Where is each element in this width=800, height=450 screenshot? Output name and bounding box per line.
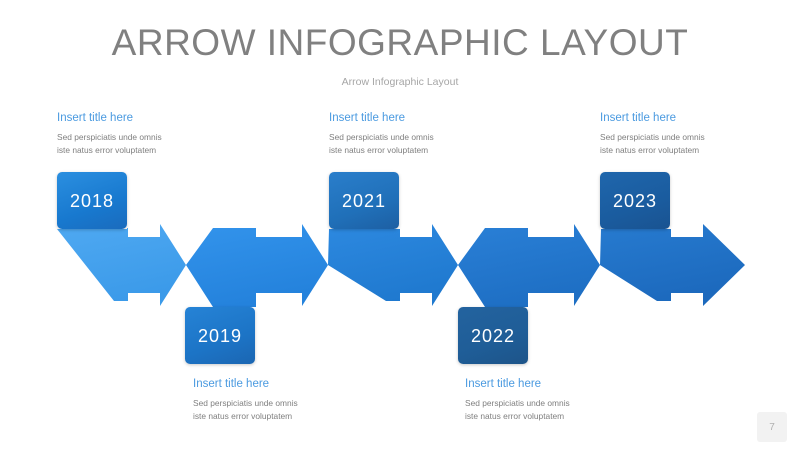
year-label-2023: 2023	[613, 192, 657, 210]
step-5-title: Insert title here	[600, 112, 775, 124]
arrow-step-1-chevron[interactable]	[57, 224, 186, 306]
step-1-title: Insert title here	[57, 112, 232, 124]
step-3-title: Insert title here	[329, 112, 504, 124]
step-3-body-line-2: iste natus error voluptatem	[329, 144, 504, 157]
arrow-step-5-chevron[interactable]	[600, 224, 745, 306]
step-5-body-line-1: Sed perspiciatis unde omnis	[600, 131, 775, 144]
page-number-badge: 7	[757, 412, 787, 442]
step-5-body-line-2: iste natus error voluptatem	[600, 144, 775, 157]
step-2-body-line-1: Sed perspiciatis unde omnis	[193, 397, 368, 410]
step-4-body: Sed perspiciatis unde omnis iste natus e…	[465, 397, 640, 423]
year-label-2021: 2021	[342, 192, 386, 210]
step-2-title: Insert title here	[193, 378, 368, 390]
year-chip-2018[interactable]: 2018	[57, 172, 127, 229]
arrow-step-3-chevron[interactable]	[328, 224, 458, 306]
text-block-step-5: Insert title here Sed perspiciatis unde …	[600, 112, 775, 157]
year-chip-2021[interactable]: 2021	[329, 172, 399, 229]
text-block-step-3: Insert title here Sed perspiciatis unde …	[329, 112, 504, 157]
text-block-step-2: Insert title here Sed perspiciatis unde …	[193, 378, 368, 423]
step-1-body: Sed perspiciatis unde omnis iste natus e…	[57, 131, 232, 157]
page-subtitle: Arrow Infographic Layout	[0, 76, 800, 88]
step-1-body-line-2: iste natus error voluptatem	[57, 144, 232, 157]
arrow-step-4-chevron[interactable]	[458, 224, 600, 307]
step-4-body-line-2: iste natus error voluptatem	[465, 410, 640, 423]
arrow-step-2-chevron[interactable]	[186, 224, 328, 307]
step-1-body-line-1: Sed perspiciatis unde omnis	[57, 131, 232, 144]
step-2-body: Sed perspiciatis unde omnis iste natus e…	[193, 397, 368, 423]
year-label-2019: 2019	[198, 327, 242, 345]
year-label-2022: 2022	[471, 327, 515, 345]
year-chip-2022[interactable]: 2022	[458, 307, 528, 364]
year-label-2018: 2018	[70, 192, 114, 210]
year-chip-2019[interactable]: 2019	[185, 307, 255, 364]
year-chip-2023[interactable]: 2023	[600, 172, 670, 229]
step-2-body-line-2: iste natus error voluptatem	[193, 410, 368, 423]
step-4-title: Insert title here	[465, 378, 640, 390]
step-5-body: Sed perspiciatis unde omnis iste natus e…	[600, 131, 775, 157]
step-3-body: Sed perspiciatis unde omnis iste natus e…	[329, 131, 504, 157]
text-block-step-1: Insert title here Sed perspiciatis unde …	[57, 112, 232, 157]
page-title: ARROW INFOGRAPHIC LAYOUT	[0, 22, 800, 64]
text-block-step-4: Insert title here Sed perspiciatis unde …	[465, 378, 640, 423]
step-4-body-line-1: Sed perspiciatis unde omnis	[465, 397, 640, 410]
page-number-text: 7	[769, 422, 775, 433]
slide-canvas: ARROW INFOGRAPHIC LAYOUT Arrow Infograph…	[0, 0, 800, 450]
step-3-body-line-1: Sed perspiciatis unde omnis	[329, 131, 504, 144]
